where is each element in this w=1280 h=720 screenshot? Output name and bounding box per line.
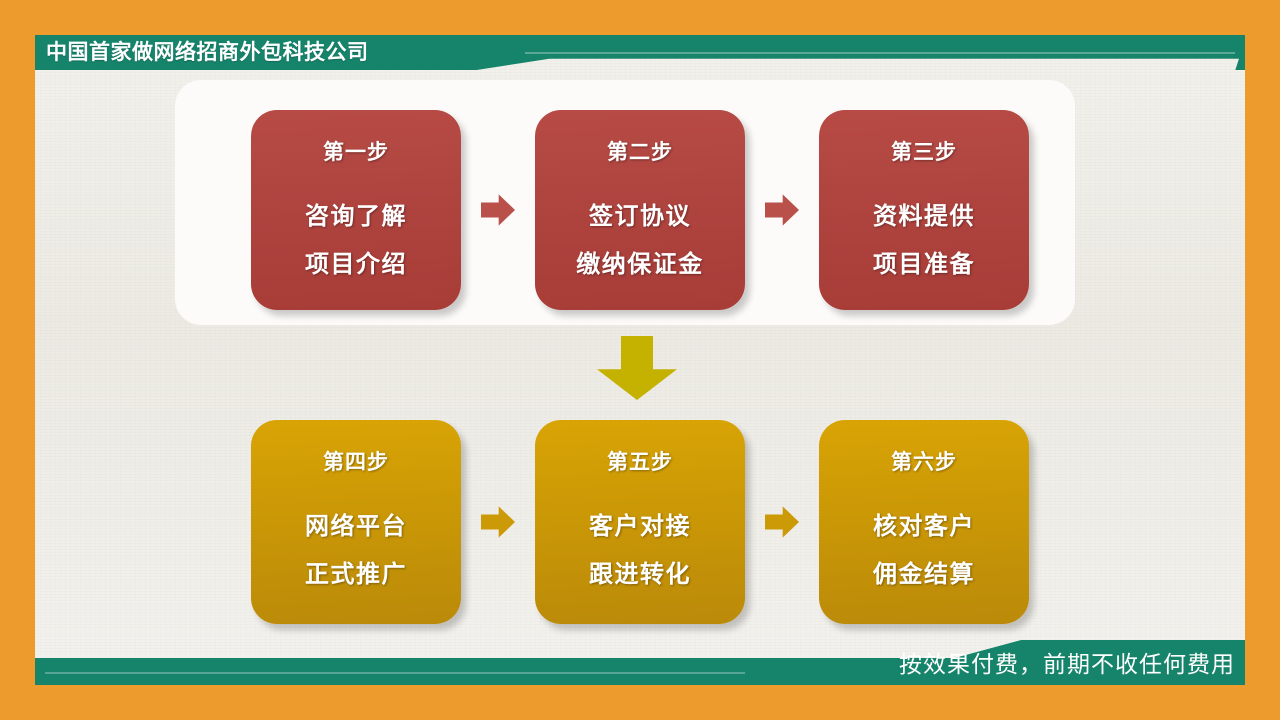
- step-card-6-line-1: 核对客户: [873, 506, 975, 541]
- step-card-5[interactable]: 第五步 客户对接 跟进转化: [535, 420, 745, 624]
- bottom-row-inner: 第四步 网络平台 正式推广 第五步 客户对接 跟进转化 第六: [251, 420, 1029, 624]
- arrow-right-icon-2: [745, 187, 819, 233]
- step-card-3-line-1: 资料提供: [873, 196, 975, 231]
- step-card-3-lines: 资料提供 项目准备: [873, 196, 975, 279]
- top-row-inner: 第一步 咨询了解 项目介绍 第二步 签订协议 缴纳保证金 第: [251, 110, 1029, 310]
- arrow-right-icon-3: [461, 499, 535, 545]
- step-card-5-line-2: 跟进转化: [589, 554, 691, 589]
- step-card-1-lines: 咨询了解 项目介绍: [305, 196, 407, 279]
- page-title: 中国首家做网络招商外包科技公司: [46, 35, 369, 70]
- step-card-2-step: 第二步: [607, 136, 673, 166]
- arrow-right-icon-4: [745, 499, 819, 545]
- step-card-1-line-2: 项目介绍: [305, 244, 407, 279]
- step-card-5-lines: 客户对接 跟进转化: [589, 506, 691, 589]
- step-card-2-lines: 签订协议 缴纳保证金: [576, 196, 704, 279]
- step-card-6-lines: 核对客户 佣金结算: [873, 506, 975, 589]
- step-card-1[interactable]: 第一步 咨询了解 项目介绍: [251, 110, 461, 310]
- step-card-4-line-2: 正式推广: [305, 554, 407, 589]
- top-row: 第一步 咨询了解 项目介绍 第二步 签订协议 缴纳保证金 第: [0, 106, 1280, 314]
- header-hairline: [525, 52, 1235, 54]
- footer-hairline: [45, 672, 745, 674]
- arrow-right-glyph: [765, 505, 799, 539]
- arrow-right-glyph: [481, 505, 515, 539]
- step-card-5-line-1: 客户对接: [589, 506, 691, 541]
- step-card-4[interactable]: 第四步 网络平台 正式推广: [251, 420, 461, 624]
- step-card-1-step: 第一步: [323, 136, 389, 166]
- step-card-4-line-1: 网络平台: [305, 506, 407, 541]
- step-card-6-line-2: 佣金结算: [873, 554, 975, 589]
- step-card-5-step: 第五步: [607, 446, 673, 476]
- step-card-6[interactable]: 第六步 核对客户 佣金结算: [819, 420, 1029, 624]
- step-card-3[interactable]: 第三步 资料提供 项目准备: [819, 110, 1029, 310]
- step-card-4-lines: 网络平台 正式推广: [305, 506, 407, 589]
- footer-tagline: 按效果付费，前期不收任何费用: [899, 645, 1235, 683]
- step-card-3-line-2: 项目准备: [873, 244, 975, 279]
- arrow-right-glyph: [765, 193, 799, 227]
- bottom-row: 第四步 网络平台 正式推广 第五步 客户对接 跟进转化 第六: [0, 416, 1280, 628]
- slide-canvas: 中国首家做网络招商外包科技公司 第一步 咨询了解 项目介绍 第二步 签订协议 缴…: [0, 0, 1280, 720]
- arrow-right-icon-1: [461, 187, 535, 233]
- step-card-1-line-1: 咨询了解: [305, 196, 407, 231]
- step-card-6-step: 第六步: [891, 446, 957, 476]
- step-card-2-line-2: 缴纳保证金: [576, 244, 704, 279]
- step-card-2-line-1: 签订协议: [576, 196, 704, 231]
- step-card-3-step: 第三步: [891, 136, 957, 166]
- step-card-4-step: 第四步: [323, 446, 389, 476]
- arrow-right-glyph: [481, 193, 515, 227]
- step-card-2[interactable]: 第二步 签订协议 缴纳保证金: [535, 110, 745, 310]
